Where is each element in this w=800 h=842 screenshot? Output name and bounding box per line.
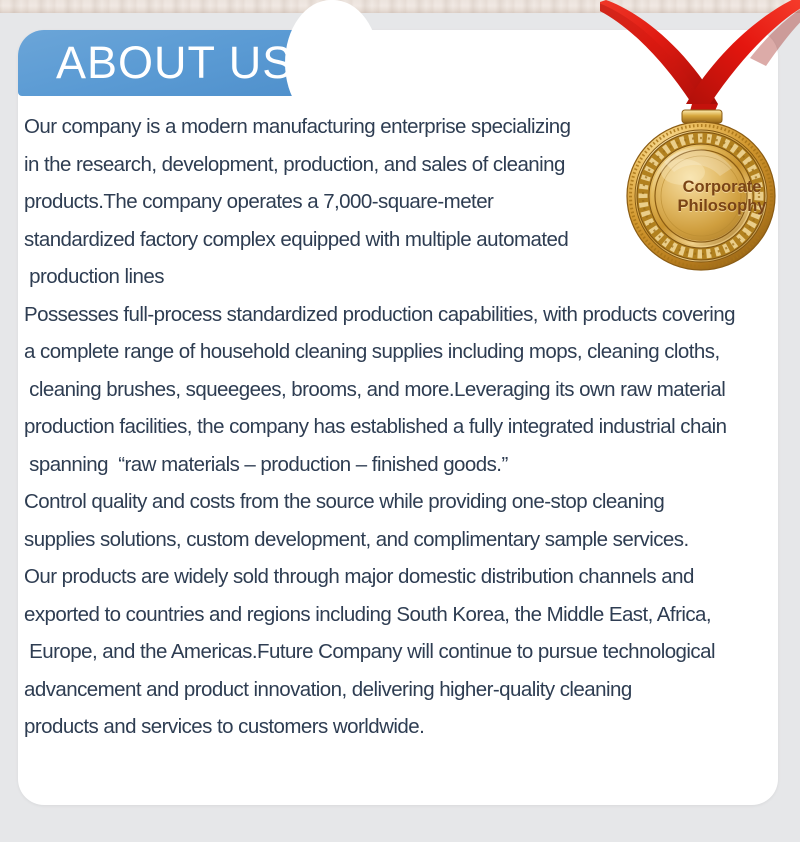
about-paragraph-3: Control quality and costs from the sourc… (24, 483, 776, 746)
page-title: ABOUT US (56, 30, 336, 96)
medal-label: Corporate Philosophy (660, 178, 784, 216)
wood-texture-strip (0, 0, 800, 13)
page-root: ABOUT US Our company is a modern manufac… (0, 0, 800, 842)
medal-label-line2: Philosophy (660, 197, 784, 216)
about-paragraph-2: Possesses full-process standardized prod… (24, 296, 776, 484)
medal-label-line1: Corporate (660, 178, 784, 197)
about-paragraph-1: Our company is a modern manufacturing en… (24, 108, 639, 296)
